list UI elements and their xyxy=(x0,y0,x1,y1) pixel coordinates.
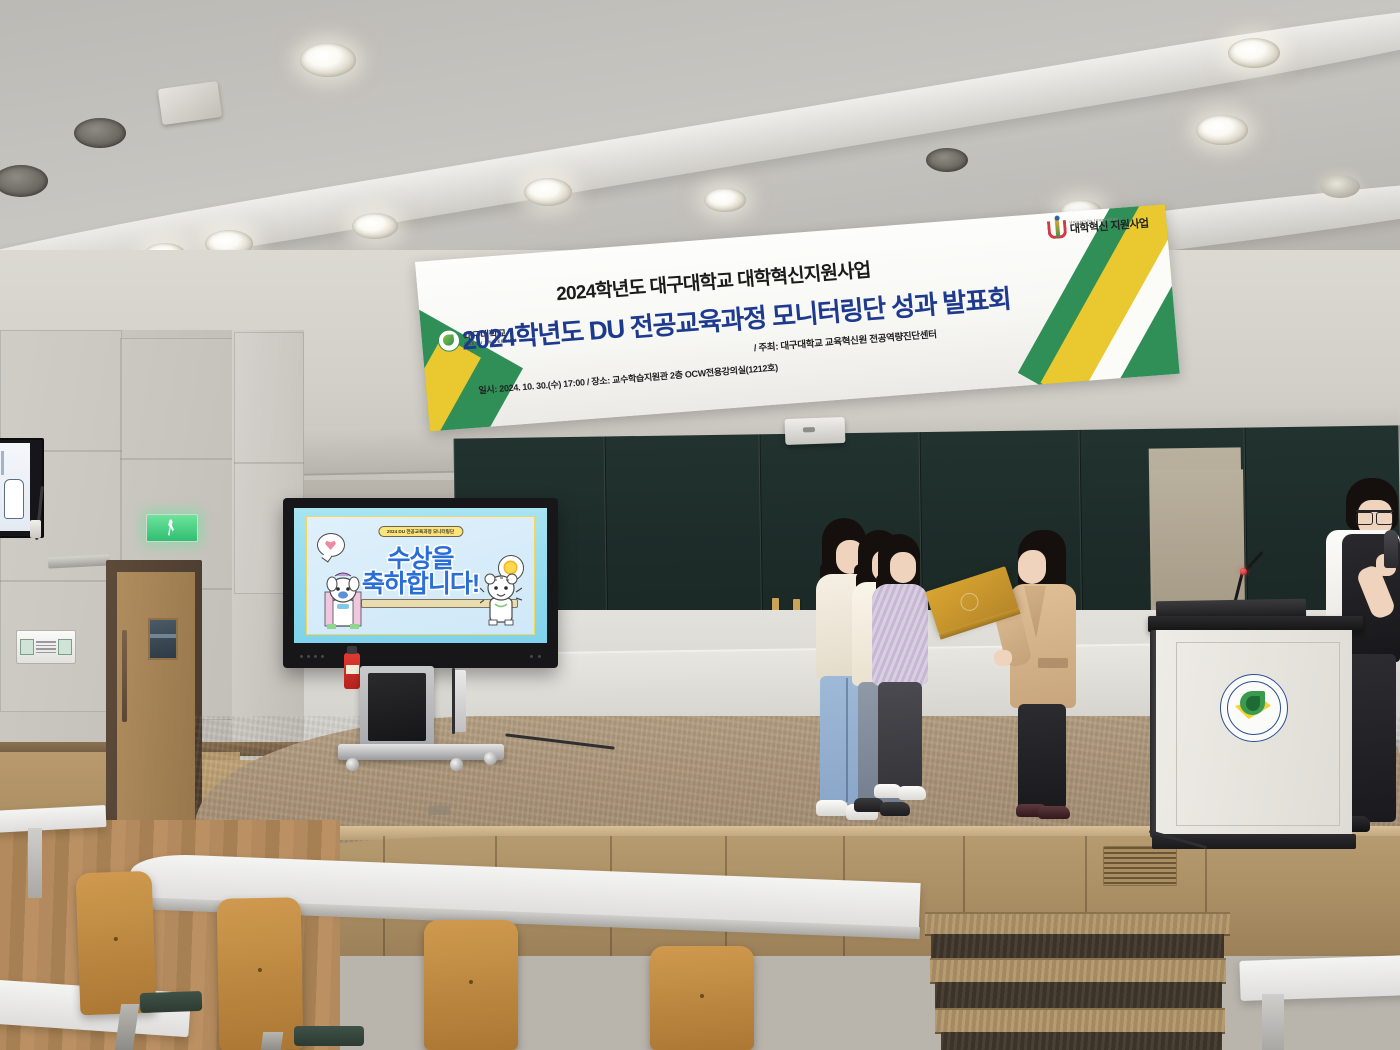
legs-jeans xyxy=(878,682,922,790)
door-handle-icon[interactable] xyxy=(122,630,127,722)
heart-bubble xyxy=(317,533,345,557)
innovation-program-logo: University Innovation 대학혁신 지원사업 xyxy=(1047,212,1149,241)
slide-badge: 2024 DU 전공교육과정 모니터링단 xyxy=(378,526,463,537)
lecture-hall-photo: 대구대학교 DAEGU UNIVERSITY University Innova… xyxy=(0,0,1400,1050)
innovation-mark-icon xyxy=(1047,218,1068,240)
desk-support xyxy=(28,828,42,898)
door-leaf xyxy=(117,572,195,858)
slide-screen: 2024 DU 전공교육과정 모니터링단 수상을 축하합니다! xyxy=(294,508,547,643)
emergency-exit-sign-icon xyxy=(146,514,198,542)
presentation-display: 2024 DU 전공교육과정 모니터링단 수상을 축하합니다! xyxy=(283,498,558,668)
lecture-chair[interactable] xyxy=(424,920,518,1050)
cart-caster-icon xyxy=(450,758,463,771)
heart-icon xyxy=(325,540,336,550)
podium-backdrop-panel xyxy=(1151,469,1245,605)
step-riser xyxy=(931,934,1224,958)
person-student-3 xyxy=(868,534,936,806)
ceiling-downlight xyxy=(926,148,968,172)
glasses-icon xyxy=(1356,510,1394,523)
ceiling-downlight xyxy=(1196,115,1248,145)
slide-content: 2024 DU 전공교육과정 모니터링단 수상을 축하합니다! xyxy=(306,516,535,635)
ceiling-projector-icon xyxy=(785,417,846,445)
step-tread xyxy=(935,1008,1225,1034)
door-window xyxy=(148,618,178,660)
cart-base-shelf xyxy=(338,744,504,760)
ceiling-downlight xyxy=(352,213,398,239)
chair-seat[interactable] xyxy=(294,1026,364,1046)
face xyxy=(890,552,916,583)
cart-caster-icon xyxy=(346,758,359,771)
control-switch-icon[interactable] xyxy=(20,639,34,655)
legs-trousers xyxy=(1018,704,1066,810)
lecture-chair[interactable] xyxy=(650,946,754,1050)
banner-details-line: 일시: 2024. 10. 30.(수) 17:00 / 장소: 교수학습지원관… xyxy=(478,360,778,396)
wall-control-panel[interactable] xyxy=(16,630,76,664)
dog-mascot-icon xyxy=(321,566,365,630)
ceiling-downlight xyxy=(1228,38,1280,68)
microphone-indicator-light xyxy=(1240,568,1247,575)
step-tread xyxy=(925,912,1230,936)
handheld-microphone-icon xyxy=(1384,530,1398,568)
power-adapter xyxy=(30,520,41,538)
hand xyxy=(994,650,1012,666)
banner-swoosh-green xyxy=(415,294,523,431)
lecture-hall-door[interactable] xyxy=(106,560,202,860)
step-tread xyxy=(930,958,1226,984)
step-riser xyxy=(941,1032,1222,1050)
shoe xyxy=(1038,806,1070,819)
podium-body xyxy=(1156,630,1352,836)
stage-steps xyxy=(925,900,1230,1050)
podium xyxy=(1148,616,1363,851)
control-switch-icon[interactable] xyxy=(58,639,72,655)
tiger-mascot-icon xyxy=(480,570,522,626)
desk-support xyxy=(1262,994,1284,1050)
display-cart xyxy=(338,666,504,762)
shoe xyxy=(816,800,848,816)
step-riser xyxy=(935,982,1222,1008)
torso-fuzzy-jacket xyxy=(872,584,928,686)
chair-leg xyxy=(261,1032,284,1050)
shoe xyxy=(898,786,926,800)
lecture-chair[interactable] xyxy=(217,897,304,1050)
ceiling-downlight xyxy=(704,188,746,212)
ceiling-downlight xyxy=(74,118,126,148)
ceiling-downlight xyxy=(1320,175,1360,198)
ceiling-downlight xyxy=(524,178,572,206)
chair-seat[interactable] xyxy=(140,991,203,1013)
floor-outlet-icon xyxy=(428,806,450,815)
university-emblem-icon xyxy=(437,329,461,353)
ceiling-downlight xyxy=(300,43,356,77)
power-cord xyxy=(452,668,455,734)
face xyxy=(1018,550,1046,584)
display-brand xyxy=(426,654,428,659)
blazer-pocket xyxy=(1038,658,1068,668)
university-seal-icon xyxy=(1220,674,1288,742)
person-presenter xyxy=(1002,530,1084,820)
stage-vent-grille xyxy=(1103,846,1177,886)
cart-caster-icon xyxy=(484,752,497,765)
cart-cpu-box xyxy=(360,666,434,748)
